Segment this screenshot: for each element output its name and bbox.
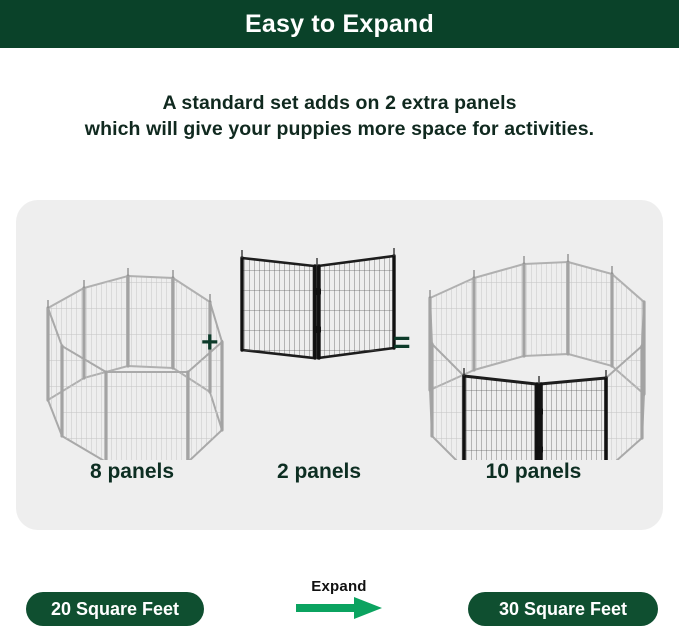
- two-panel-count-label: 2 panels: [224, 460, 414, 484]
- area-badge-before-label: 20 Square Feet: [51, 599, 179, 620]
- subtitle-line-1: A standard set adds on 2 extra panels: [0, 90, 679, 116]
- expand-label: Expand: [283, 578, 395, 595]
- header-banner: Easy to Expand: [0, 0, 679, 48]
- ten-panel-count-label: 10 panels: [416, 460, 651, 484]
- plus-icon: +: [201, 328, 219, 358]
- area-badge-before: 20 Square Feet: [26, 592, 204, 626]
- arrow-right-icon: [296, 597, 382, 619]
- two-panel-set-graphic: [234, 230, 404, 460]
- ten-panel-pen-graphic: [416, 230, 656, 460]
- subtitle-line-2: which will give your puppies more space …: [0, 116, 679, 142]
- equals-icon: =: [393, 328, 411, 358]
- subtitle-block: A standard set adds on 2 extra panels wh…: [0, 90, 679, 142]
- page-title: Easy to Expand: [245, 10, 434, 39]
- area-badge-after-label: 30 Square Feet: [499, 599, 627, 620]
- two-panel-set-illustration: [234, 230, 404, 460]
- expand-indicator: Expand: [283, 578, 395, 619]
- illustration-card: +: [16, 200, 663, 530]
- area-badge-after: 30 Square Feet: [468, 592, 658, 626]
- ten-panel-pen-illustration: [416, 230, 656, 460]
- eight-panel-count-label: 8 panels: [32, 460, 232, 484]
